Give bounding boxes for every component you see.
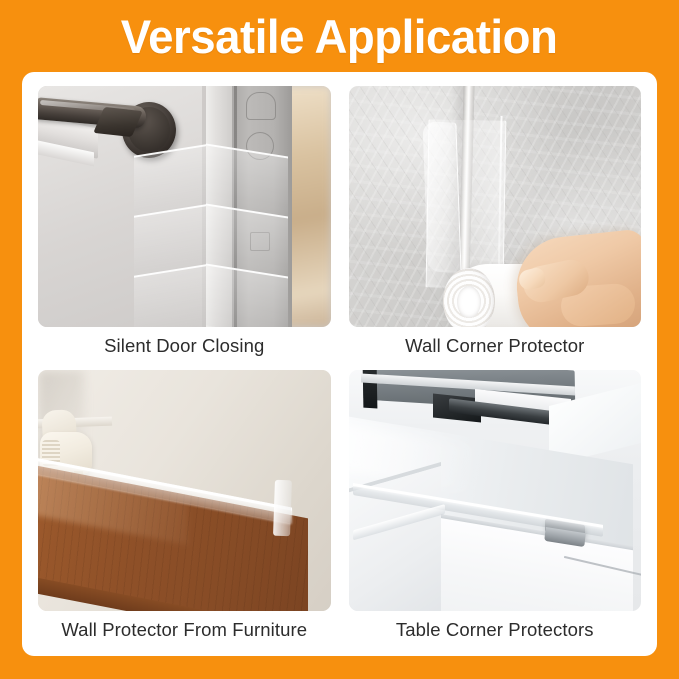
caption-wall-corner-protector: Wall Corner Protector [405,335,584,357]
page-title: Versatile Application [121,13,558,60]
feature-cell-table-corner-protectors: Table Corner Protectors [349,370,642,644]
caption-wall-protector-from-furniture: Wall Protector From Furniture [61,619,307,641]
tape-roll-core [457,286,481,318]
corner-guard-strip-bottom [134,270,288,327]
feature-grid: Silent Door Closing [22,72,657,656]
product-infographic-poster: Versatile Application [0,0,679,679]
caption-silent-door-closing: Silent Door Closing [104,335,264,357]
photo-silent-door-closing [38,86,331,327]
table-corner-guard [273,480,292,537]
caption-table-corner-protectors: Table Corner Protectors [396,619,594,641]
corner-guard-side-face [206,264,288,327]
poster-header: Versatile Application [0,0,679,72]
photo-wall-corner-protector [349,86,642,327]
feature-cell-wall-protector-from-furniture: Wall Protector From Furniture [38,370,331,644]
corner-guard-strip-top [134,150,288,212]
corner-guard-front-face [134,264,206,327]
photo-table-corner-protectors [349,370,642,611]
door-hardware-slot [246,92,276,120]
tape-strip-lifted-section [422,121,461,273]
photo-wall-protector-from-furniture [38,370,331,611]
content-card: Silent Door Closing [22,72,657,656]
corner-guard-strip-middle [134,210,288,272]
feature-cell-wall-corner-protector: Wall Corner Protector [349,86,642,360]
feature-cell-silent-door-closing: Silent Door Closing [38,86,331,360]
